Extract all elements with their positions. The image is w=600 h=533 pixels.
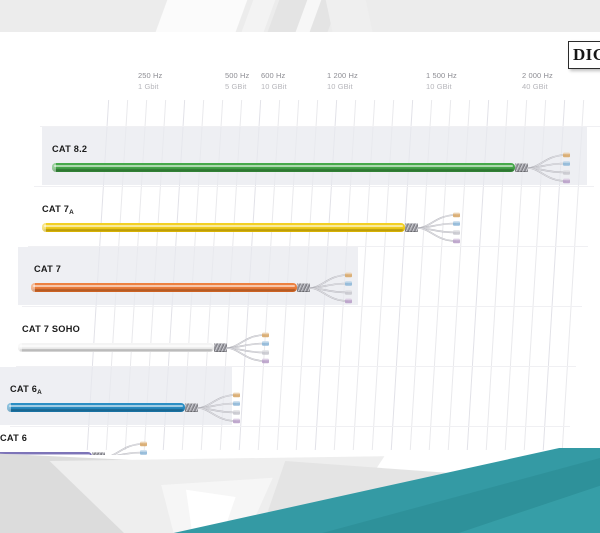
axis-tick-0: 250 Hz1 Gbit [138,70,162,92]
cable-label-text: CAT 7 SOHO [22,324,80,334]
top-wedge-5 [324,0,377,32]
cable-label-cat-6: CAT 6 [0,433,27,443]
axis-tick-bandwidth: 10 GBit [327,81,358,92]
cable-row: CAT 7 SOHO [0,307,600,365]
cable-cut-end [42,223,46,232]
cable-cut-end [52,163,56,172]
cable-label-cat-7: CAT 7A [42,204,74,214]
top-decoration-band [0,0,600,32]
cable-cut-end [31,283,35,292]
cable-label-cat-8-2: CAT 8.2 [52,144,87,154]
brand-logo-text: DIG [569,45,600,65]
cable-row-backdrop [42,127,587,185]
cable-label-text: CAT 6 [10,384,37,394]
cable-shadow [54,169,513,171]
axis-tick-5: 2 000 Hz40 GBit [522,70,553,92]
cable-label-text: CAT 6 [0,433,27,443]
cable-bar [18,343,214,352]
cable-twisted-pairs [526,148,572,188]
cable-row: CAT 8.2 [0,127,600,185]
cable-bar [31,283,297,292]
cable-row: CAT 7 [0,247,600,305]
cable-shadow [44,229,403,231]
axis-tick-bandwidth: 10 GBit [261,81,287,92]
cable-shadow [20,349,212,351]
cable-twisted-pairs [308,268,354,308]
cable-highlight [54,165,513,167]
cable-row-backdrop [18,247,358,305]
axis-tick-frequency: 600 Hz [261,70,287,81]
cable-twisted-pairs [416,208,462,248]
axis-tick-1: 500 Hz5 GBit [225,70,249,92]
axis-tick-4: 1 500 Hz10 GBit [426,70,457,92]
cable-bar [52,163,515,172]
cable-label-cat-6: CAT 6A [10,384,42,394]
axis-tick-frequency: 500 Hz [225,70,249,81]
axis-tick-3: 1 200 Hz10 GBit [327,70,358,92]
bottom-decoration [0,448,600,533]
cable-highlight [20,345,212,347]
cable-highlight [9,405,183,407]
cable-label-text: CAT 7 [42,204,69,214]
axis-tick-2: 600 Hz10 GBit [261,70,287,92]
axis-tick-frequency: 1 200 Hz [327,70,358,81]
cable-highlight [44,225,403,227]
cable-label-text: CAT 7 [34,264,61,274]
axis-tick-frequency: 2 000 Hz [522,70,553,81]
brand-logo: DIG [568,41,600,69]
cable-label-text: CAT 8.2 [52,144,87,154]
cable-bar [42,223,405,232]
cable-label-cat-7: CAT 7 [34,264,61,274]
top-wedge-1 [149,0,251,32]
cable-row: CAT 6A [0,367,600,425]
axis-tick-bandwidth: 1 Gbit [138,81,162,92]
cable-comparison-chart: 250 Hz1 Gbit500 Hz5 GBit600 Hz10 GBit1 2… [0,70,600,455]
slide-canvas: DIG 250 Hz1 Gbit500 Hz5 GBit600 Hz10 GBi… [0,0,600,533]
axis-tick-bandwidth: 5 GBit [225,81,249,92]
cable-twisted-pairs [225,328,271,368]
cable-cut-end [18,343,22,352]
cable-shadow [33,289,295,291]
frequency-axis-labels: 250 Hz1 Gbit500 Hz5 GBit600 Hz10 GBit1 2… [0,70,600,104]
axis-tick-frequency: 250 Hz [138,70,162,81]
cable-row: CAT 7A [0,187,600,245]
cable-bar [7,403,185,412]
cable-shadow [9,409,183,411]
cable-label-cat-7-soho: CAT 7 SOHO [22,324,80,334]
cable-cut-end [7,403,11,412]
axis-tick-frequency: 1 500 Hz [426,70,457,81]
axis-tick-bandwidth: 40 GBit [522,81,553,92]
cable-highlight [33,285,295,287]
axis-tick-bandwidth: 10 GBit [426,81,457,92]
cable-label-subscript: A [69,209,74,216]
cable-label-subscript: A [37,389,42,396]
